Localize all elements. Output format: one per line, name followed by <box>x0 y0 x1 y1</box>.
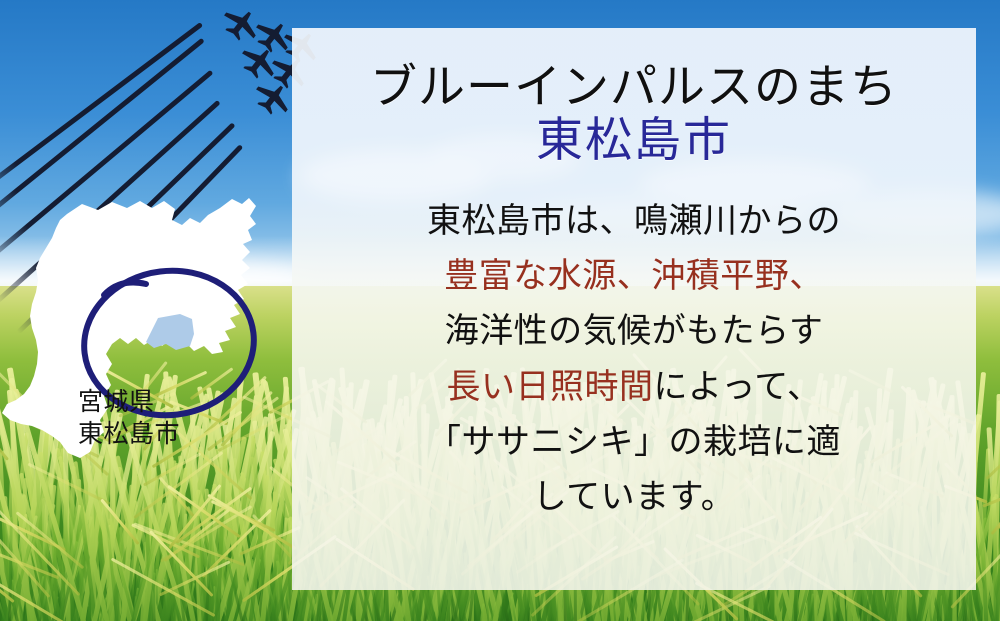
description-text: 東松島市は、鳴瀬川からの豊富な水源、沖積平野、海洋性の気候がもたらす長い日照時間… <box>292 194 976 524</box>
map-label-city: 東松島市 <box>78 418 248 450</box>
description-line: 豊富な水源、沖積平野、 <box>338 249 930 304</box>
map-label-group: 宮城県 東松島市 <box>78 386 248 450</box>
description-segment: しています。 <box>533 479 736 516</box>
description-segment: 東松島市は、鳴瀬川からの <box>427 203 841 240</box>
map-label-prefecture: 宮城県 <box>78 386 248 418</box>
description-segment: によって、 <box>653 369 821 406</box>
description-line: 長い日照時間によって、 <box>338 360 930 415</box>
description-line: 東松島市は、鳴瀬川からの <box>338 194 930 249</box>
description-line: しています。 <box>338 470 930 525</box>
description-segment: 海洋性の気候がもたらす <box>445 313 824 350</box>
title-block: ブルーインパルスのまち 東松島市 <box>292 28 976 168</box>
page-title-tagline: ブルーインパルスのまち <box>292 64 976 114</box>
rice-blade <box>556 592 558 621</box>
description-segment: 「ササニシキ」の栽培に適 <box>427 424 841 461</box>
description-highlight: 長い日照時間 <box>446 369 653 406</box>
content-panel: ブルーインパルスのまち 東松島市 東松島市は、鳴瀬川からの豊富な水源、沖積平野、… <box>292 28 976 590</box>
description-line: 「ササニシキ」の栽培に適 <box>338 415 930 470</box>
promotional-banner: 宮城県 東松島市 ブルーインパルスのまち 東松島市 東松島市は、鳴瀬川からの豊富… <box>0 0 1000 621</box>
miyagi-prefecture-map: 宮城県 東松島市 <box>0 168 294 508</box>
description-highlight: 豊富な水源、沖積平野、 <box>444 258 824 295</box>
description-line: 海洋性の気候がもたらす <box>338 304 930 359</box>
page-title-city: 東松島市 <box>292 114 976 169</box>
